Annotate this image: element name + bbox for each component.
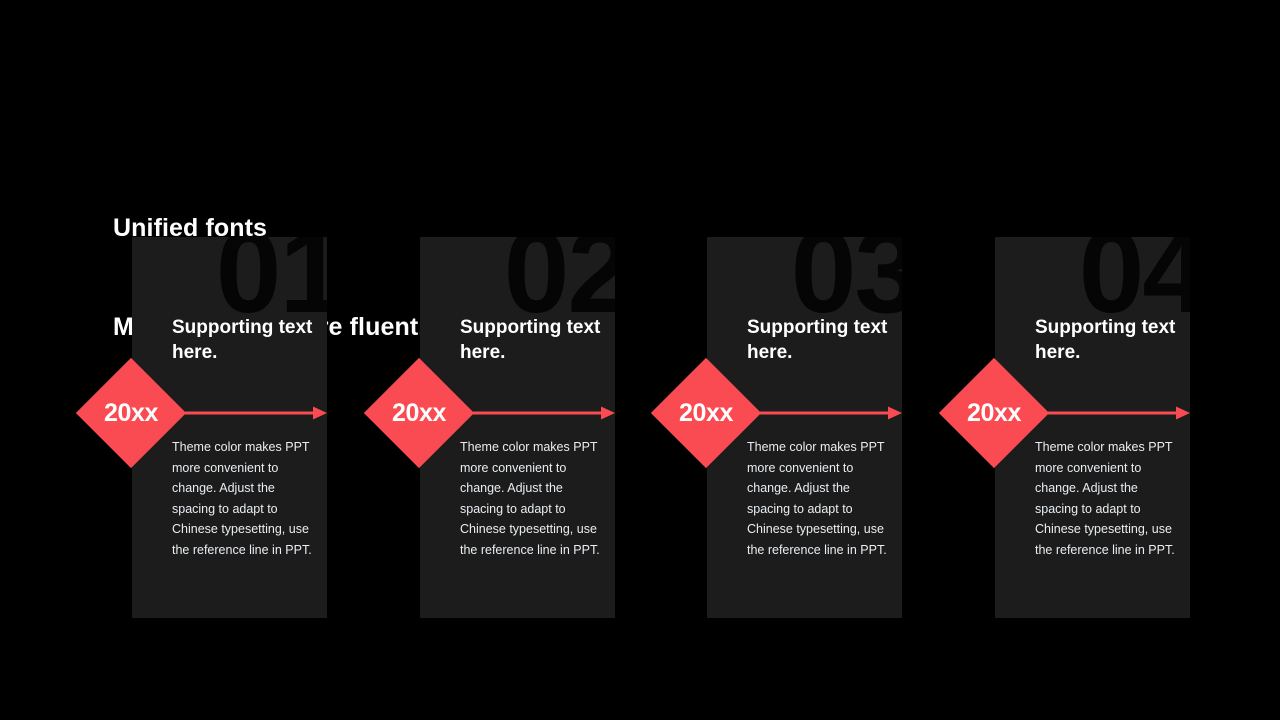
year-label: 20xx <box>939 358 1049 468</box>
arrow-icon <box>473 406 615 420</box>
year-marker[interactable]: 20xx <box>939 358 1049 468</box>
card-body-text: Theme color makes PPT more convenient to… <box>747 437 887 560</box>
card-body-text: Theme color makes PPT more convenient to… <box>460 437 600 560</box>
card-title: Supporting text here. <box>460 315 610 365</box>
arrow-icon <box>760 406 902 420</box>
card-title: Supporting text here. <box>1035 315 1185 365</box>
card-body-text: Theme color makes PPT more convenient to… <box>172 437 312 560</box>
timeline-cards: 01 Supporting text here. Theme color mak… <box>0 0 1280 720</box>
year-label: 20xx <box>651 358 761 468</box>
arrow-icon <box>185 406 327 420</box>
slide-canvas: Unified fonts Make reading more fluent. … <box>0 0 1280 720</box>
year-marker[interactable]: 20xx <box>364 358 474 468</box>
arrow-icon <box>1048 406 1190 420</box>
year-marker[interactable]: 20xx <box>651 358 761 468</box>
card-title: Supporting text here. <box>747 315 897 365</box>
year-label: 20xx <box>364 358 474 468</box>
card-title: Supporting text here. <box>172 315 322 365</box>
year-marker[interactable]: 20xx <box>76 358 186 468</box>
year-label: 20xx <box>76 358 186 468</box>
card-body-text: Theme color makes PPT more convenient to… <box>1035 437 1175 560</box>
